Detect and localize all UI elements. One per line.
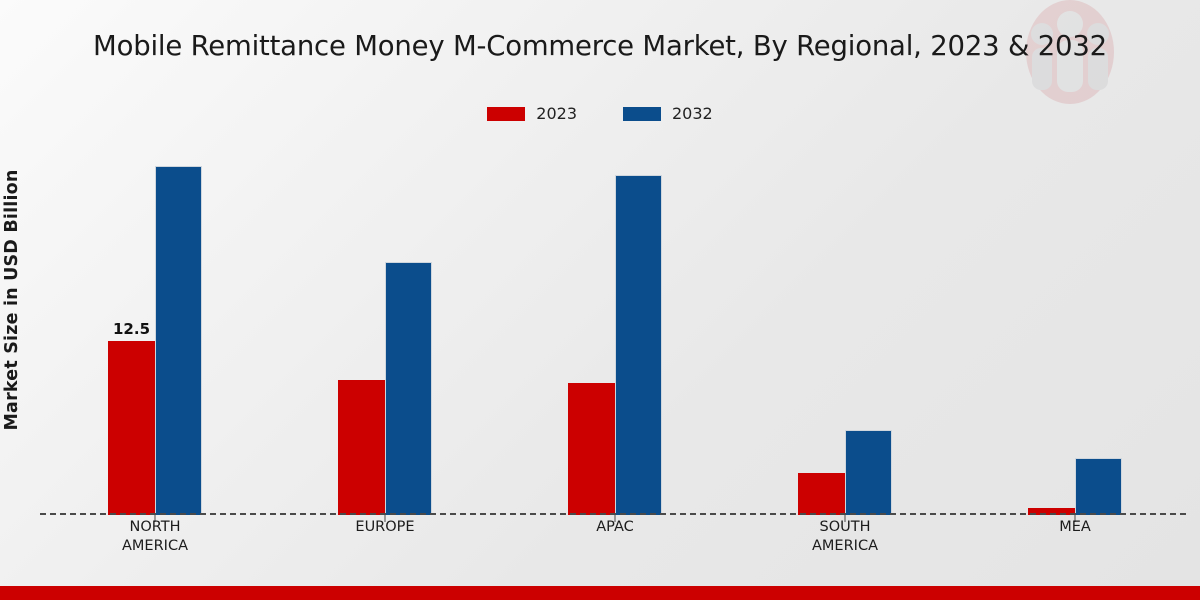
legend-label-2032: 2032 bbox=[672, 104, 713, 123]
legend-label-2023: 2023 bbox=[536, 104, 577, 123]
chart-figure: Mobile Remittance Money M-Commerce Marke… bbox=[0, 0, 1200, 600]
page-title: Mobile Remittance Money M-Commerce Marke… bbox=[0, 30, 1200, 62]
bar-2023-europe[interactable] bbox=[338, 380, 385, 515]
bar-2032-apac[interactable] bbox=[615, 175, 662, 515]
x-label-south-america: SOUTH AMERICA bbox=[730, 518, 960, 556]
y-axis-title: Market Size in USD Billion bbox=[2, 169, 22, 430]
chart-legend: 2023 2032 bbox=[0, 104, 1200, 123]
x-label-north-america: NORTH AMERICA bbox=[40, 518, 270, 556]
bar-2023-north-america[interactable]: 12.5 bbox=[108, 341, 155, 515]
bar-2032-mea[interactable] bbox=[1075, 458, 1122, 515]
x-axis-labels: NORTH AMERICA EUROPE APAC SOUTH AMERICA … bbox=[40, 518, 1190, 556]
legend-item-2023[interactable]: 2023 bbox=[487, 104, 577, 123]
bar-group-south-america bbox=[730, 140, 960, 515]
bar-2023-apac[interactable] bbox=[568, 383, 615, 515]
legend-swatch-2023 bbox=[487, 107, 525, 121]
bar-group-europe bbox=[270, 140, 500, 515]
bar-group-north-america: 12.5 bbox=[40, 140, 270, 515]
plot-area: 12.5 bbox=[40, 140, 1190, 515]
bar-2032-south-america[interactable] bbox=[845, 430, 892, 515]
bar-group-mea bbox=[960, 140, 1190, 515]
bar-2032-north-america[interactable] bbox=[155, 166, 202, 515]
x-label-europe: EUROPE bbox=[270, 518, 500, 556]
footer-accent-bar bbox=[0, 586, 1200, 600]
bar-2023-south-america[interactable] bbox=[798, 473, 845, 515]
legend-item-2032[interactable]: 2032 bbox=[623, 104, 713, 123]
bar-2032-europe[interactable] bbox=[385, 262, 432, 515]
legend-swatch-2032 bbox=[623, 107, 661, 121]
bar-group-apac bbox=[500, 140, 730, 515]
x-label-mea: MEA bbox=[960, 518, 1190, 556]
bar-groups: 12.5 bbox=[40, 140, 1190, 515]
x-axis-baseline bbox=[40, 513, 1186, 515]
x-label-apac: APAC bbox=[500, 518, 730, 556]
bar-value-label: 12.5 bbox=[113, 320, 150, 338]
